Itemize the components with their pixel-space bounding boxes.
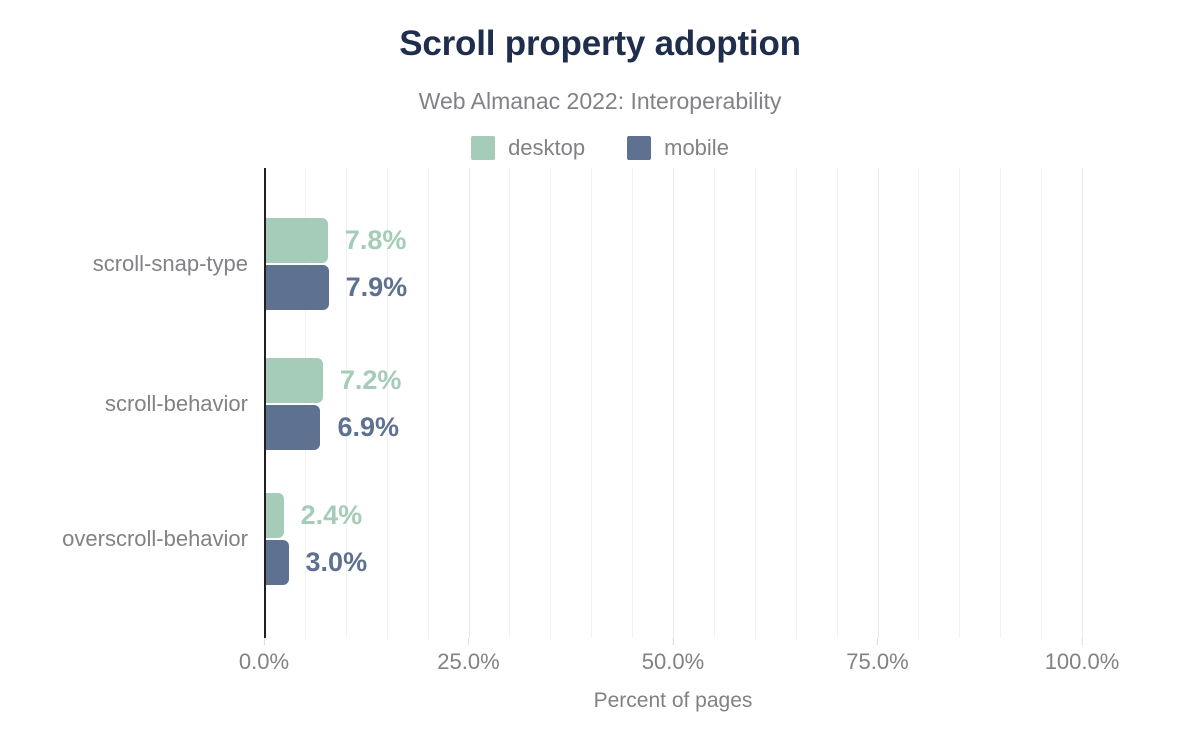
y-axis-category-labels: scroll-snap-typescroll-behavioroverscrol… [0, 168, 248, 638]
legend-swatch-mobile-icon [627, 136, 651, 160]
x-axis-tick: 100.0% [1045, 638, 1120, 673]
x-axis-tick: 50.0% [642, 638, 704, 673]
y-axis-line [264, 168, 266, 638]
bar-value-label: 7.9% [346, 274, 408, 301]
plot-area: 7.8%7.9%7.2%6.9%2.4%3.0% [264, 168, 1082, 638]
legend-label-mobile: mobile [664, 137, 729, 159]
bar-group: 7.8%7.9% [264, 218, 1082, 310]
x-axis-tick-label: 75.0% [846, 651, 908, 673]
bar-value-label: 2.4% [301, 502, 363, 529]
chart-subtitle: Web Almanac 2022: Interoperability [0, 90, 1200, 113]
bar-row: 6.9% [264, 405, 1082, 450]
x-axis-tick-label: 25.0% [437, 651, 499, 673]
legend-swatch-desktop-icon [471, 136, 495, 160]
bar-desktop[interactable] [264, 493, 284, 538]
bar-value-label: 7.8% [345, 227, 407, 254]
chart-title: Scroll property adoption [0, 26, 1200, 61]
bar-row: 7.9% [264, 265, 1082, 310]
y-axis-label-scroll-behavior: scroll-behavior [0, 393, 248, 415]
bar-row: 2.4% [264, 493, 1082, 538]
y-axis-label-overscroll-behavior: overscroll-behavior [0, 528, 248, 550]
bar-group: 7.2%6.9% [264, 358, 1082, 450]
x-axis-tick-mark [264, 638, 265, 645]
chart-legend: desktop mobile [0, 136, 1200, 160]
gridline [1082, 168, 1083, 638]
legend-item-mobile[interactable]: mobile [627, 136, 729, 160]
bar-mobile[interactable] [264, 540, 289, 585]
legend-item-desktop[interactable]: desktop [471, 136, 585, 160]
x-axis-ticks: 0.0%25.0%50.0%75.0%100.0% [264, 638, 1082, 678]
bar-row: 7.8% [264, 218, 1082, 263]
x-axis-tick: 75.0% [846, 638, 908, 673]
bar-mobile[interactable] [264, 405, 320, 450]
x-axis-tick-label: 100.0% [1045, 651, 1120, 673]
bar-row: 7.2% [264, 358, 1082, 403]
x-axis-tick-mark [468, 638, 469, 645]
x-axis-tick-label: 50.0% [642, 651, 704, 673]
x-axis-tick-mark [877, 638, 878, 645]
bar-desktop[interactable] [264, 218, 328, 263]
bar-groups: 7.8%7.9%7.2%6.9%2.4%3.0% [264, 168, 1082, 638]
legend-label-desktop: desktop [508, 137, 585, 159]
chart-figure: Scroll property adoption Web Almanac 202… [0, 0, 1200, 742]
bar-value-label: 6.9% [337, 414, 399, 441]
bar-value-label: 3.0% [306, 549, 368, 576]
x-axis-tick: 25.0% [437, 638, 499, 673]
bar-group: 2.4%3.0% [264, 493, 1082, 585]
y-axis-label-scroll-snap-type: scroll-snap-type [0, 253, 248, 275]
bar-mobile[interactable] [264, 265, 329, 310]
x-axis-title: Percent of pages [264, 690, 1082, 711]
x-axis-tick-mark [1082, 638, 1083, 645]
x-axis-tick: 0.0% [239, 638, 289, 673]
bar-desktop[interactable] [264, 358, 323, 403]
x-axis-tick-mark [672, 638, 673, 645]
bar-row: 3.0% [264, 540, 1082, 585]
bar-value-label: 7.2% [340, 367, 402, 394]
x-axis-tick-label: 0.0% [239, 651, 289, 673]
